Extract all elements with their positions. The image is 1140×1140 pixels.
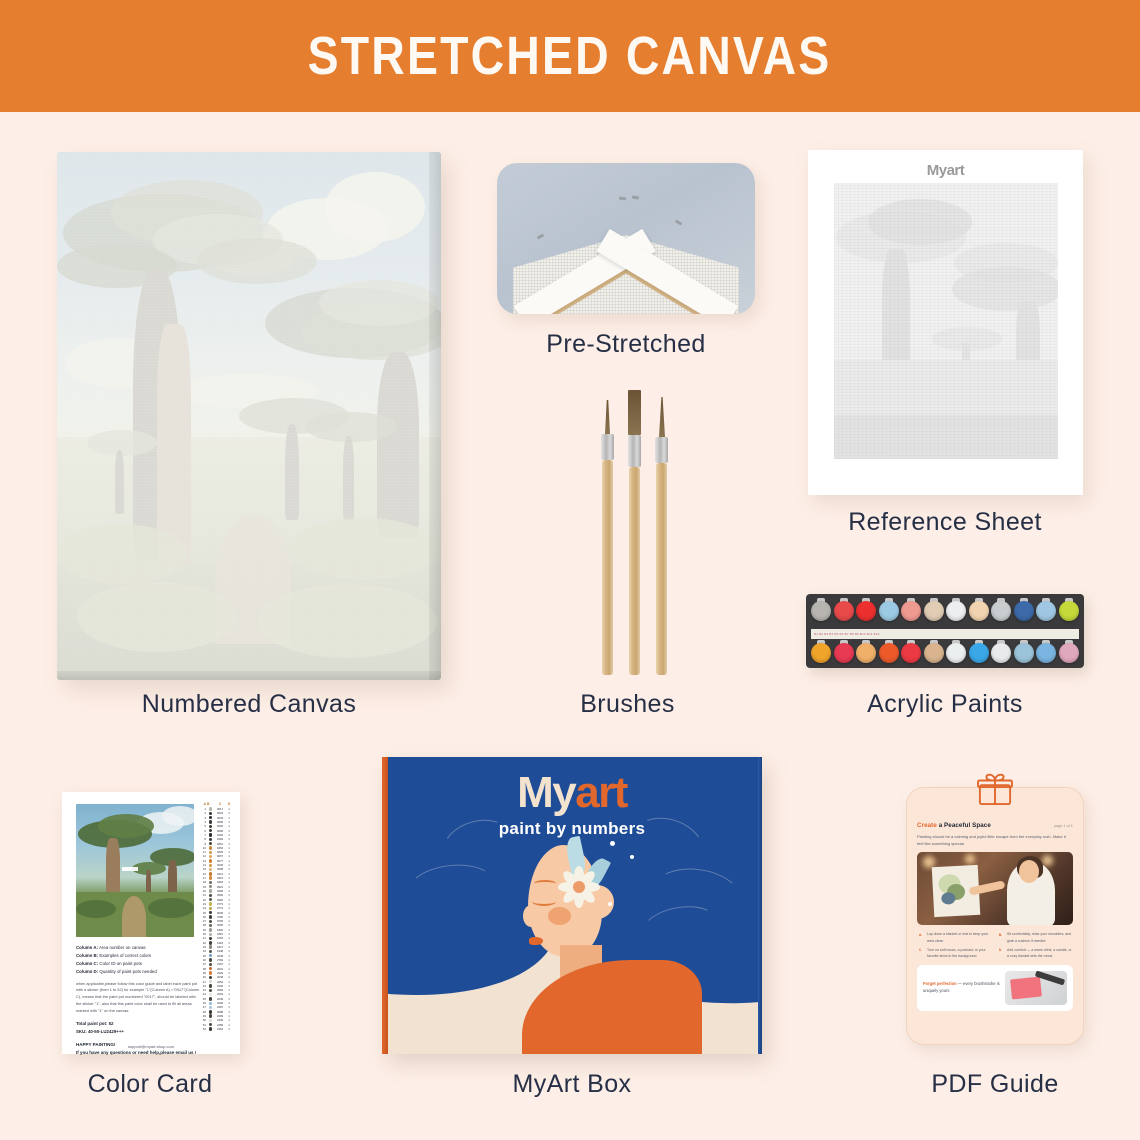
callout-text: Forget perfection — every brushstroke is… [923, 981, 1000, 995]
color-card-text-block: Column A: Area number on canvas Column B… [76, 944, 200, 1057]
pdf-heading-row: Create a Peaceful Space page 1 of 1 [917, 822, 1073, 829]
brush-fine [602, 400, 613, 675]
legend-line: Column D: Quantity of paint pots needed [76, 968, 200, 976]
paint-pot-lid [969, 643, 989, 663]
paint-pot-lid [991, 643, 1011, 663]
color-swatch [209, 868, 212, 871]
paint-pot [811, 598, 831, 628]
paint-pot [946, 640, 966, 670]
paint-pot-lid [856, 643, 876, 663]
paint-pot [969, 640, 989, 670]
paint-pot [901, 640, 921, 670]
color-card-photo [76, 804, 194, 937]
color-swatch [209, 902, 212, 905]
faded-overlay [57, 152, 441, 680]
color-swatch-cell [207, 838, 214, 841]
sku-code: SKU: 40-50-LU2429+++ [76, 1028, 200, 1036]
paint-pot-lid [1014, 643, 1034, 663]
pdf-heading: Create a Peaceful Space [917, 822, 991, 829]
callout-image [1005, 971, 1067, 1005]
legend-line: Column A: Area number on canvas [76, 944, 200, 952]
reference-sheet-image: Myart [808, 150, 1083, 495]
tip-text: Turn on soft music, a podcast, or your f… [927, 947, 993, 959]
box-subtitle: paint by numbers [382, 819, 762, 839]
color-swatch [209, 976, 212, 979]
color-table-row: 5222621 [202, 1027, 234, 1031]
paint-pot [1014, 640, 1034, 670]
pdf-tips-grid: A.Lay down a blanket or mat to keep your… [917, 931, 1073, 959]
sparkle-dot [630, 855, 634, 859]
color-swatch [209, 1006, 212, 1009]
color-swatch [209, 984, 212, 987]
paint-pot [1059, 640, 1079, 670]
color-swatch-cell [207, 1027, 214, 1030]
color-swatch [209, 864, 212, 867]
lips [529, 937, 543, 945]
color-swatch-cell [207, 807, 214, 810]
color-swatch [209, 889, 212, 892]
closed-eye [532, 897, 556, 906]
color-swatch-cell [207, 872, 214, 875]
pdf-page-number: page 1 of 1 [1054, 824, 1073, 828]
paint-pot-lid [811, 643, 831, 663]
myart-logo: Myart [382, 771, 762, 815]
label-myart-box: MyArt Box [382, 1070, 762, 1099]
box-spine-left [382, 757, 388, 1054]
paint-pot-lid [991, 601, 1011, 621]
nose [523, 905, 539, 927]
paint-pot-lid [924, 643, 944, 663]
paint-pot-lid [811, 601, 831, 621]
color-swatch [209, 971, 212, 974]
color-swatch-cell [207, 846, 214, 849]
color-swatch-cell [207, 976, 214, 979]
legend-line: Column B: Examples of correct colors [76, 952, 200, 960]
color-swatch [209, 963, 212, 966]
paint-pot-lid [1059, 601, 1079, 621]
color-swatch-cell [207, 971, 214, 974]
paint-pot [811, 640, 831, 670]
paint-pot-lid [879, 643, 899, 663]
pdf-tip: D.Add comfort — a warm drink, a candle, … [997, 947, 1073, 959]
color-swatch [209, 907, 212, 910]
painting-shape [941, 892, 956, 905]
paint-pot-lid [901, 643, 921, 663]
color-swatch-cell [207, 1019, 214, 1022]
paint-pot-lid [969, 601, 989, 621]
label-numbered-canvas: Numbered Canvas [57, 690, 441, 719]
color-swatch-cell [207, 911, 214, 914]
color-swatch-cell [207, 1014, 214, 1017]
sparkle-dot [608, 902, 612, 906]
color-swatch [209, 928, 212, 931]
color-swatch [209, 989, 212, 992]
pdf-tip: A.Lay down a blanket or mat to keep your… [917, 931, 993, 943]
paint-pot-lid [946, 601, 966, 621]
color-swatch-cell [207, 954, 214, 957]
paint-by-numbers-artwork [57, 152, 441, 680]
pdf-description: Painting should be a calming and joyful … [917, 833, 1073, 847]
color-swatch [209, 915, 212, 918]
color-swatch [209, 894, 212, 897]
color-swatch-cell [207, 881, 214, 884]
color-swatch-cell [207, 997, 214, 1000]
numbered-canvas-image [57, 152, 441, 680]
paint-pot-lid [1036, 601, 1056, 621]
paint-pot-lid [1059, 643, 1079, 663]
pre-stretched-image [497, 163, 755, 314]
color-swatch [209, 812, 212, 815]
color-swatch [209, 980, 212, 983]
paint-swatch [1010, 976, 1042, 999]
color-swatch-cell [207, 829, 214, 832]
legend-line: Column C: Color ID on paint pots [76, 960, 200, 968]
color-swatch [209, 820, 212, 823]
brush-round [656, 397, 667, 675]
eyebrow [534, 880, 556, 887]
gift-icon [976, 772, 1014, 806]
color-swatch-cell [207, 885, 214, 888]
color-swatch [209, 816, 212, 819]
color-swatch [209, 833, 212, 836]
color-swatch [209, 1014, 212, 1017]
staple [675, 219, 683, 225]
paint-pot [924, 640, 944, 670]
color-swatch-cell [207, 920, 214, 923]
tip-text: Lay down a blanket or mat to keep your a… [927, 931, 993, 943]
flower-center [573, 881, 585, 893]
color-table-body: 1001712002413003314009015009216009517919… [202, 807, 234, 1031]
color-swatch-cell [207, 894, 214, 897]
color-swatch-cell [207, 1023, 214, 1026]
color-swatch-cell [207, 842, 214, 845]
color-swatch-cell [207, 945, 214, 948]
color-swatch [209, 920, 212, 923]
help-text: If you have any questions or need help,p… [76, 1049, 200, 1057]
pdf-tip: B.Sit comfortably, relax your shoulders,… [997, 931, 1073, 943]
paint-pot [946, 598, 966, 628]
paint-pot [1036, 598, 1056, 628]
tree-canopy [98, 814, 154, 838]
color-swatch [209, 1019, 212, 1022]
color-swatch-cell [207, 993, 214, 996]
paint-pot [879, 640, 899, 670]
dirt-path [122, 896, 146, 937]
color-swatch-cell [207, 889, 214, 892]
tip-text: Sit comfortably, relax your shoulders, a… [1007, 931, 1073, 943]
color-swatch-cell [207, 967, 214, 970]
support-email: support@myart-shop.com [62, 1044, 240, 1049]
color-swatch-cell [207, 868, 214, 871]
warm-light [965, 854, 975, 864]
cloud [162, 806, 194, 826]
color-swatch-cell [207, 941, 214, 944]
brush-flat [629, 390, 640, 675]
pdf-callout: Forget perfection — every brushstroke is… [917, 965, 1073, 1011]
color-swatch [209, 937, 212, 940]
color-swatch [209, 1002, 212, 1005]
product-infographic: STRETCHED CANVAS [0, 0, 1140, 1140]
cheek-blush [548, 907, 571, 925]
color-swatch [209, 967, 212, 970]
color-reference-table: A B C D 10017120024130033140090150092160… [202, 802, 234, 1044]
tip-text: Add comfort — a warm drink, a candle, or… [1007, 947, 1073, 959]
color-swatch [209, 876, 212, 879]
box-spine-right [758, 757, 762, 1054]
color-swatch [209, 950, 212, 953]
paint-pot [991, 598, 1011, 628]
label-reference-sheet: Reference Sheet [800, 508, 1090, 537]
color-swatch-cell [207, 851, 214, 854]
arrow-marker [122, 867, 138, 871]
color-swatch [209, 851, 212, 854]
color-swatch [209, 911, 212, 914]
canvas-side-edge [429, 152, 441, 680]
pdf-guide-page: Create a Peaceful Space page 1 of 1 Pain… [917, 822, 1073, 1034]
paint-pot [834, 598, 854, 628]
paint-pot-lid [946, 643, 966, 663]
color-swatch-cell [207, 907, 214, 910]
bush [76, 900, 116, 918]
color-swatch [209, 825, 212, 828]
color-card-image: Column A: Area number on canvas Column B… [62, 792, 240, 1054]
color-swatch-cell [207, 958, 214, 961]
color-swatch-cell [207, 898, 214, 901]
color-swatch-cell [207, 928, 214, 931]
color-swatch-cell [207, 855, 214, 858]
color-swatch-cell [207, 825, 214, 828]
color-swatch-cell [207, 1002, 214, 1005]
color-swatch-cell [207, 963, 214, 966]
color-swatch [209, 898, 212, 901]
tip-number: B. [997, 931, 1004, 938]
tip-number: C. [917, 947, 924, 954]
color-swatch [209, 924, 212, 927]
myart-box-image: Myart paint by numbers [382, 757, 762, 1054]
color-swatch [209, 846, 212, 849]
pot-quantity: 1 [226, 1027, 232, 1031]
color-swatch [209, 829, 212, 832]
color-swatch-cell [207, 1010, 214, 1013]
daisy-flower [557, 865, 601, 909]
color-swatch-cell [207, 820, 214, 823]
paint-pot [991, 640, 1011, 670]
color-swatch [209, 941, 212, 944]
paint-pot [856, 598, 876, 628]
color-swatch [209, 1027, 212, 1030]
reference-sheet-logo: Myart [808, 162, 1083, 179]
paint-pot [1059, 598, 1079, 628]
staple [632, 196, 639, 200]
paint-pot [856, 640, 876, 670]
paint-pot-lid [1036, 643, 1056, 663]
canvas-corner-photo [497, 163, 755, 314]
color-swatch-cell [207, 833, 214, 836]
sparkle-dot [610, 841, 615, 846]
paint-pot [1014, 598, 1034, 628]
color-swatch-cell [207, 980, 214, 983]
label-pdf-guide: PDF Guide [895, 1070, 1095, 1099]
color-swatch [209, 842, 212, 845]
color-swatch-cell [207, 812, 214, 815]
color-swatch [209, 807, 212, 810]
pdf-tip: C.Turn on soft music, a podcast, or your… [917, 947, 993, 959]
color-swatch [209, 993, 212, 996]
color-swatch-cell [207, 864, 214, 867]
color-swatch [209, 954, 212, 957]
paint-pot-row-bottom [811, 640, 1079, 670]
label-acrylic-paints: Acrylic Paints [800, 690, 1090, 719]
paint-pot-lid [834, 601, 854, 621]
color-id: 2262 [214, 1027, 226, 1031]
color-swatch-cell [207, 989, 214, 992]
paint-pot [1036, 640, 1056, 670]
paint-pot-lid [856, 601, 876, 621]
color-card-instructions: when applicable,please follow this color… [76, 981, 200, 1015]
acrylic-paints-tray: B1 B2 B3 B4 B5 B6 B7 B8 B9 B10 B11 B12 [806, 594, 1084, 668]
color-swatch-cell [207, 816, 214, 819]
paint-label-strip: B1 B2 B3 B4 B5 B6 B7 B8 B9 B10 B11 B12 [811, 629, 1079, 639]
paint-pot-lid [924, 601, 944, 621]
color-swatch-cell [207, 876, 214, 879]
paint-pot [879, 598, 899, 628]
bush [148, 898, 194, 918]
paint-pot [924, 598, 944, 628]
color-swatch [209, 958, 212, 961]
paint-pot-lid [1014, 601, 1034, 621]
color-swatch-cell [207, 937, 214, 940]
canvas-bottom-edge [57, 671, 441, 680]
faded-overlay [834, 183, 1058, 459]
reference-sheet-artwork [834, 183, 1058, 459]
brushes-image [590, 390, 680, 675]
tip-number: A. [917, 931, 924, 938]
color-swatch [209, 945, 212, 948]
staple [619, 197, 626, 201]
label-color-card: Color Card [50, 1070, 250, 1099]
color-swatch [209, 872, 212, 875]
color-swatch [209, 933, 212, 936]
color-swatch [209, 881, 212, 884]
paint-pot-lid [901, 601, 921, 621]
pdf-guide-image: Create a Peaceful Space page 1 of 1 Pain… [906, 787, 1084, 1045]
color-swatch [209, 1010, 212, 1013]
color-swatch-cell [207, 984, 214, 987]
color-swatch-cell [207, 859, 214, 862]
pdf-photo [917, 852, 1073, 925]
label-pre-stretched: Pre-Stretched [497, 330, 755, 359]
paint-pot [969, 598, 989, 628]
header-banner: STRETCHED CANVAS [0, 0, 1140, 112]
paint-pot-lid [834, 643, 854, 663]
color-swatch [209, 1023, 212, 1026]
paint-pot-lid [879, 601, 899, 621]
color-swatch-cell [207, 950, 214, 953]
color-swatch [209, 838, 212, 841]
color-swatch-cell [207, 924, 214, 927]
paint-pot-row-top [811, 598, 1079, 628]
label-brushes: Brushes [500, 690, 755, 719]
staple [537, 234, 545, 240]
paint-pot [834, 640, 854, 670]
color-swatch-cell [207, 1006, 214, 1009]
color-swatch [209, 885, 212, 888]
color-swatch-cell [207, 933, 214, 936]
paint-pot [901, 598, 921, 628]
table-header-row: A B C D [202, 802, 234, 806]
color-swatch-cell [207, 915, 214, 918]
color-swatch [209, 997, 212, 1000]
tip-number: D. [997, 947, 1004, 954]
total-paint-pot: Total paint pot: 52 [76, 1020, 200, 1028]
color-swatch [209, 855, 212, 858]
color-swatch [209, 859, 212, 862]
color-swatch-cell [207, 902, 214, 905]
page-title: STRETCHED CANVAS [308, 25, 832, 87]
